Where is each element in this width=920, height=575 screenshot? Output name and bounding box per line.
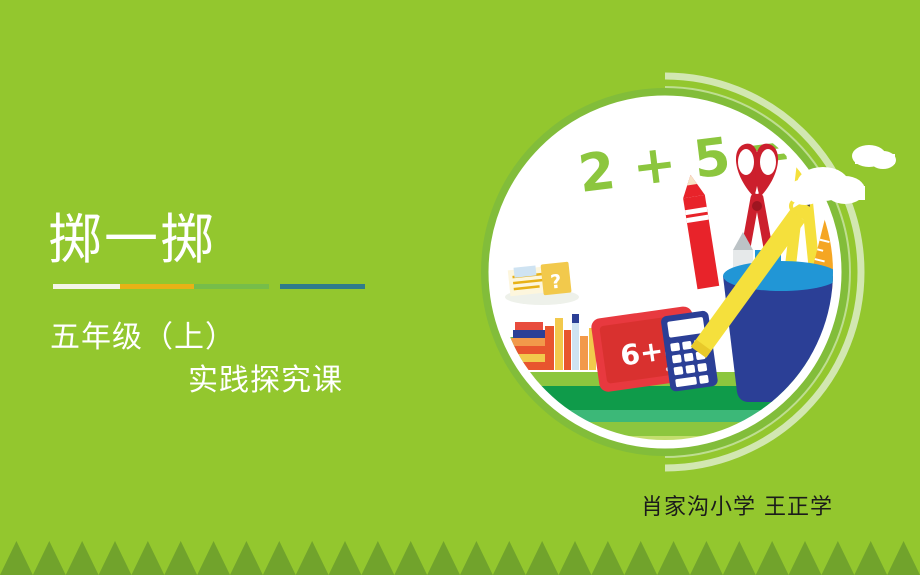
zigzag-tooth: [230, 541, 263, 575]
zigzag-tooth: [821, 541, 854, 575]
note-card-icon: ?: [505, 262, 579, 305]
zigzag-tooth: [263, 541, 296, 575]
zigzag-tooth: [854, 541, 887, 575]
zigzag-tooth: [361, 541, 394, 575]
zigzag-tooth: [131, 541, 164, 575]
title-block: 掷一掷: [48, 212, 468, 269]
zigzag-tooth: [789, 541, 822, 575]
zigzag-tooth: [66, 541, 99, 575]
divider-segment-orange: [120, 284, 194, 289]
divider-segment-teal: [280, 284, 365, 289]
author-credit: 肖家沟小学 王正学: [0, 489, 833, 521]
zigzag-tooth: [33, 541, 66, 575]
zigzag-tooth: [887, 541, 920, 575]
zigzag-tooth: [427, 541, 460, 575]
zigzag-tooth: [690, 541, 723, 575]
zigzag-tooth: [657, 541, 690, 575]
cloud-small: [852, 145, 896, 169]
zigzag-footer: [0, 535, 920, 575]
zigzag-tooth: [591, 541, 624, 575]
zigzag-tooth: [296, 541, 329, 575]
zigzag-tooth: [164, 541, 197, 575]
zigzag-tooth: [460, 541, 493, 575]
subtitle-grade: 五年级（上）: [50, 312, 236, 356]
zigzag-tooth: [394, 541, 427, 575]
divider-segment-white: [53, 284, 120, 289]
zigzag-tooth: [197, 541, 230, 575]
zigzag-tooth: [526, 541, 559, 575]
slide-root: 2 + 5 = 7 ?: [0, 0, 920, 575]
zigzag-tooth: [624, 541, 657, 575]
title-divider: [53, 284, 365, 289]
illustration-artwork: 2 + 5 = 7 ?: [487, 100, 887, 460]
zigzag-tooth: [559, 541, 592, 575]
zigzag-tooth: [493, 541, 526, 575]
subtitle-course: 实践探究课: [188, 355, 343, 399]
zigzag-tooth: [329, 541, 362, 575]
divider-segment-green: [194, 284, 269, 289]
divider-segment-gap: [269, 284, 280, 289]
zigzag-tooth: [756, 541, 789, 575]
zigzag-teeth: [0, 541, 920, 575]
card-question-mark: ?: [549, 271, 562, 294]
zigzag-tooth: [0, 541, 33, 575]
zigzag-tooth: [723, 541, 756, 575]
page-title: 掷一掷: [48, 212, 468, 269]
zigzag-tooth: [99, 541, 132, 575]
